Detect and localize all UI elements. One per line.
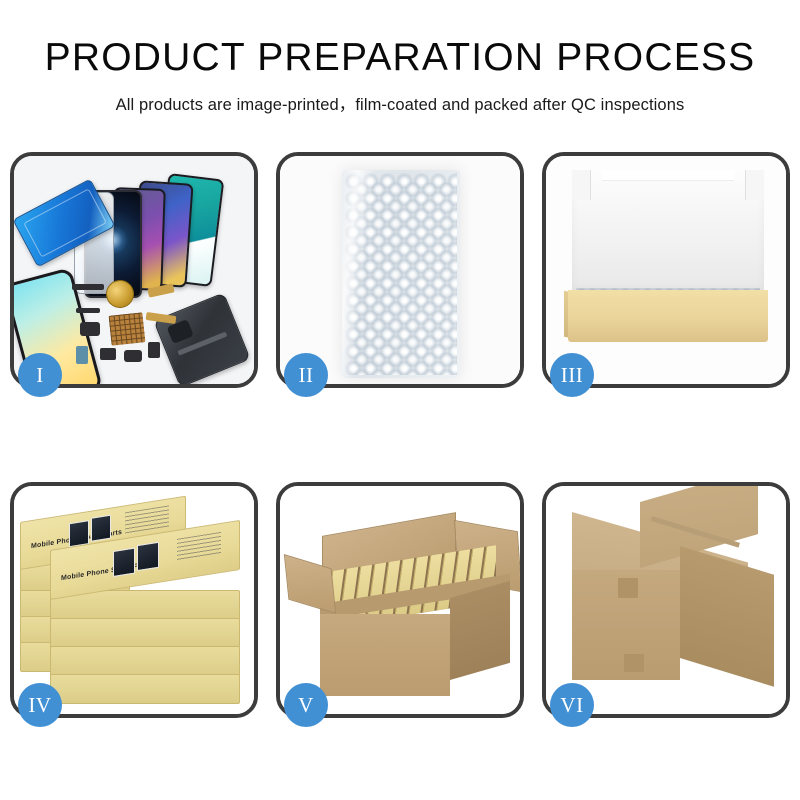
box-lid-photo-front-1 <box>113 548 135 577</box>
battery-part <box>76 346 88 364</box>
process-step-panel-5: V <box>276 482 524 718</box>
bubble-wrapped-item-illustration <box>280 156 520 384</box>
process-step-panel-6: VI <box>542 482 790 718</box>
box-lid-white <box>572 170 764 296</box>
sealed-carton-illustration <box>546 486 786 714</box>
process-step-grid: I II <box>10 152 790 718</box>
step-image-5 <box>280 486 520 714</box>
stacked-box-front-2 <box>50 618 240 648</box>
box-lid-lip <box>602 170 734 181</box>
bubble-wrap-package <box>342 170 460 378</box>
carton-filling-illustration <box>280 486 520 714</box>
stacked-box-front-4 <box>50 674 240 704</box>
earpiece-part <box>72 284 104 290</box>
box-body-kraft <box>568 290 768 342</box>
page-header: PRODUCT PREPARATION PROCESS All products… <box>0 0 800 115</box>
button-part <box>100 348 116 360</box>
step-badge-4: IV <box>18 683 62 727</box>
flex-cable-part <box>76 308 100 313</box>
box-lid-photo-back-2 <box>91 515 111 542</box>
camera-module-part <box>80 322 100 336</box>
sim-tray-part <box>148 342 160 358</box>
process-step-panel-2: II <box>276 152 524 388</box>
step-badge-2: II <box>284 353 328 397</box>
wrap-edge-right <box>518 156 520 384</box>
process-step-panel-3: III <box>542 152 790 388</box>
box-lid-photo-front-2 <box>137 542 159 571</box>
carton-handle-tab-bottom <box>624 654 644 672</box>
step-image-4: Mobile Phone Spare Parts Mobile Phone Sp… <box>14 486 254 714</box>
step-badge-5: V <box>284 683 328 727</box>
step-image-2 <box>280 156 520 384</box>
box-stack: Mobile Phone Spare Parts Mobile Phone Sp… <box>14 486 254 714</box>
retail-box-stack-illustration: Mobile Phone Spare Parts Mobile Phone Sp… <box>14 486 254 714</box>
carton-side-panel <box>450 581 510 680</box>
step-badge-6: VI <box>550 683 594 727</box>
connector-board <box>109 312 146 345</box>
step-badge-3: III <box>550 353 594 397</box>
box-lid-spec-front <box>177 532 221 561</box>
wrap-edge-left <box>280 156 282 384</box>
sealed-carton-right-panel <box>680 546 774 687</box>
stacked-box-front-3 <box>50 646 240 676</box>
carton-front-panel <box>320 614 450 696</box>
spare-parts-assortment-illustration <box>14 156 254 384</box>
step-badge-1: I <box>18 353 62 397</box>
phone-back-housing <box>153 292 250 384</box>
vibrator-part <box>124 350 142 362</box>
step-image-6 <box>546 486 786 714</box>
process-step-panel-4: Mobile Phone Spare Parts Mobile Phone Sp… <box>10 482 258 718</box>
inner-box-packing-illustration <box>546 156 786 384</box>
product-preparation-process-page: PRODUCT PREPARATION PROCESS All products… <box>0 0 800 800</box>
box-lid-spec-back <box>125 505 169 534</box>
page-subtitle: All products are image-printed，film-coat… <box>0 91 800 115</box>
step-image-1 <box>14 156 254 384</box>
page-title: PRODUCT PREPARATION PROCESS <box>0 38 800 79</box>
process-step-panel-1: I <box>10 152 258 388</box>
carton-handle-tab-top <box>618 578 638 598</box>
step-image-3 <box>546 156 786 384</box>
